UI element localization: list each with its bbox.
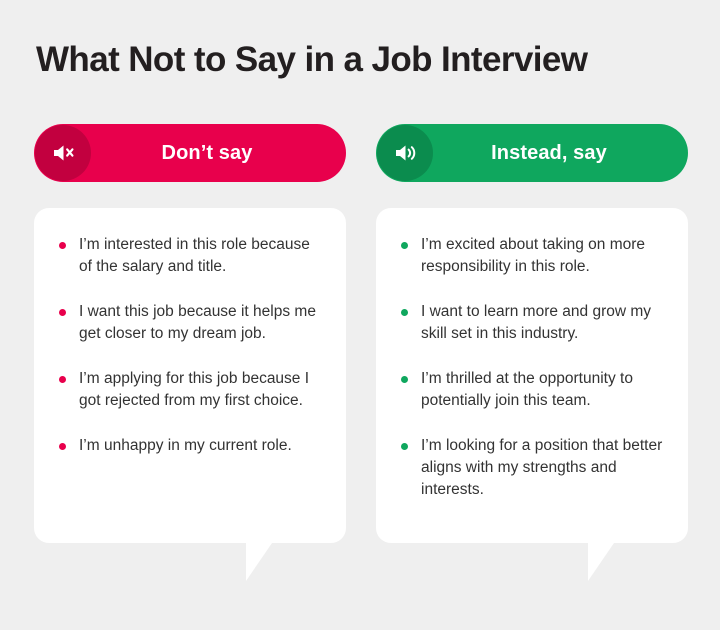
speaker-on-icon: [377, 125, 433, 181]
header-pill-dont-say: Don’t say: [34, 124, 346, 182]
card-instead-say: I’m excited about taking on more respons…: [376, 208, 688, 543]
list-item: I’m looking for a position that better a…: [398, 435, 666, 501]
speech-bubble-tail: [246, 543, 272, 581]
speech-bubble-tail: [588, 543, 614, 581]
list-item: I want this job because it helps me get …: [56, 301, 324, 345]
page-title: What Not to Say in a Job Interview: [36, 38, 696, 82]
column-dont-say: Don’t say I’m interested in this role be…: [34, 124, 346, 543]
infographic-canvas: What Not to Say in a Job Interview Don’t…: [0, 0, 720, 630]
list-item: I’m thrilled at the opportunity to poten…: [398, 368, 666, 412]
list-item: I’m interested in this role because of t…: [56, 234, 324, 278]
list-item: I’m applying for this job because I got …: [56, 368, 324, 412]
header-pill-instead-say: Instead, say: [376, 124, 688, 182]
list-item: I want to learn more and grow my skill s…: [398, 301, 666, 345]
list-item: I’m unhappy in my current role.: [56, 435, 324, 457]
list-dont-say: I’m interested in this role because of t…: [56, 234, 324, 457]
list-item: I’m excited about taking on more respons…: [398, 234, 666, 278]
list-instead-say: I’m excited about taking on more respons…: [398, 234, 666, 501]
speaker-mute-icon: [35, 125, 91, 181]
card-wrap-instead-say: I’m excited about taking on more respons…: [376, 208, 688, 543]
card-dont-say: I’m interested in this role because of t…: [34, 208, 346, 543]
card-wrap-dont-say: I’m interested in this role because of t…: [34, 208, 346, 543]
column-instead-say: Instead, say I’m excited about taking on…: [376, 124, 688, 543]
